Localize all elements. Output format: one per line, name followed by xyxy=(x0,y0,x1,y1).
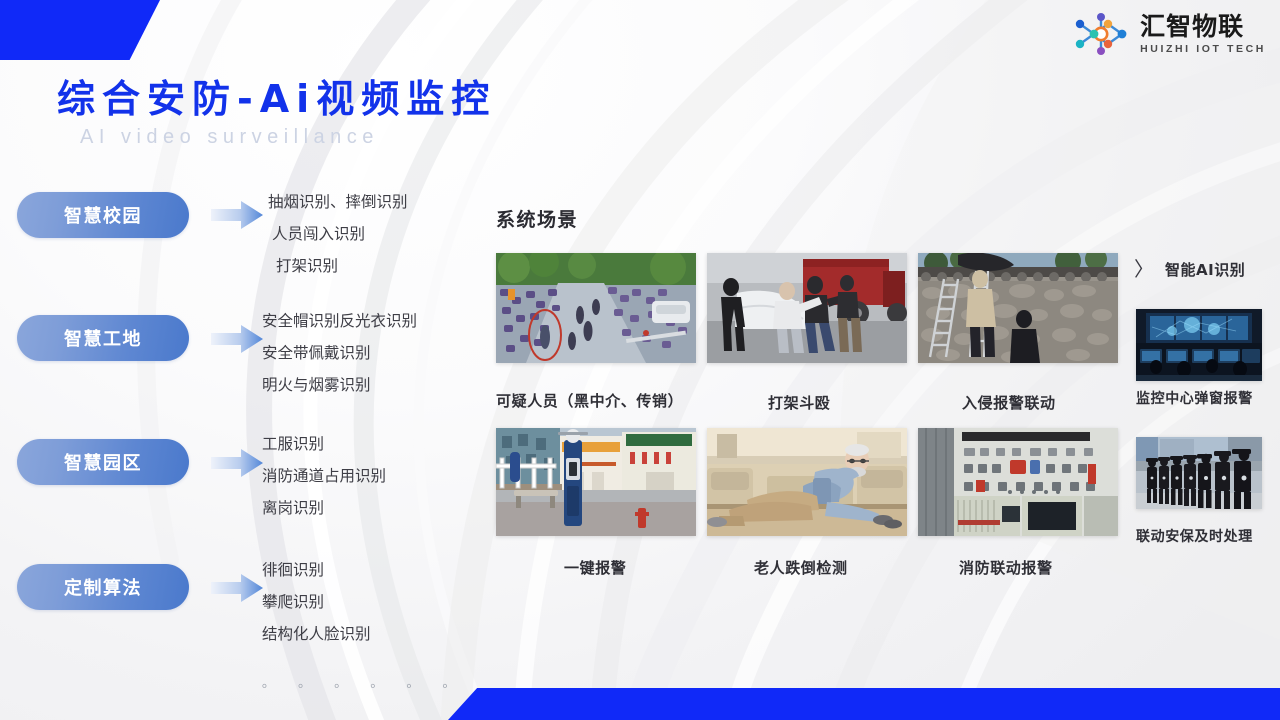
category-item: 消防通道占用识别 xyxy=(262,460,482,492)
category-row: 智慧校园 抽烟识别、摔倒识别 人员闯入识别 打架识别 xyxy=(0,180,480,302)
category-item: 攀爬识别 xyxy=(262,586,482,618)
side-photo-monitoring-center[interactable] xyxy=(1136,309,1262,381)
category-pill-smart-site[interactable]: 智慧工地 xyxy=(17,315,189,361)
slide-canvas: 汇智物联 HUIZHI IOT TECH 综合安防-Ai视频监控 AI vide… xyxy=(0,0,1280,720)
ai-recognition-label: 智能AI识别 xyxy=(1165,259,1245,280)
category-pill-smart-park[interactable]: 智慧园区 xyxy=(17,439,189,485)
scene-photo-suspicious-person[interactable] xyxy=(496,253,696,363)
category-pill-label: 智慧工地 xyxy=(64,325,142,351)
category-pill-smart-campus[interactable]: 智慧校园 xyxy=(17,192,189,238)
brand-logo: 汇智物联 HUIZHI IOT TECH xyxy=(1070,12,1266,56)
category-items: 安全帽识别反光衣识别 安全带佩戴识别 明火与烟雾识别 xyxy=(262,305,482,401)
category-row: 智慧工地 安全帽识别反光衣识别 安全带佩戴识别 明火与烟雾识别 xyxy=(0,302,480,424)
category-item: 明火与烟雾识别 xyxy=(262,369,482,401)
arrow-right-icon xyxy=(211,200,263,230)
category-item: 离岗识别 xyxy=(262,492,482,524)
category-item: 安全帽识别反光衣识别 xyxy=(262,305,482,337)
category-pill-label: 定制算法 xyxy=(64,574,142,600)
category-row: 定制算法 徘徊识别 攀爬识别 结构化人脸识别 xyxy=(0,546,480,668)
arrow-right-icon xyxy=(211,573,263,603)
category-items: 抽烟识别、摔倒识别 人员闯入识别 打架识别 xyxy=(268,186,483,282)
side-photo-caption: 监控中心弹窗报警 xyxy=(1136,388,1253,408)
ai-recognition-tag: 〉 智能AI识别 xyxy=(1134,259,1245,280)
monitoring-center-photo xyxy=(1136,309,1262,381)
category-item: 打架识别 xyxy=(268,250,483,282)
scene-caption: 可疑人员（黑中介、传销） xyxy=(496,390,683,411)
arrow-right-icon xyxy=(211,448,263,478)
ellipsis-dots: ｡ ｡ ｡ ｡ ｡ ｡ xyxy=(262,672,462,691)
street-crowd-surveillance-photo xyxy=(496,253,696,363)
category-item: 人员闯入识别 xyxy=(268,218,483,250)
category-pill-label: 智慧园区 xyxy=(64,449,142,475)
scene-photo-one-key-alarm[interactable] xyxy=(496,428,696,536)
arrow-right-icon xyxy=(211,324,263,354)
category-row: 智慧园区 工服识别 消防通道占用识别 离岗识别 xyxy=(0,424,480,546)
category-pill-custom-algorithm[interactable]: 定制算法 xyxy=(17,564,189,610)
page-subtitle: AI video surveillance xyxy=(80,126,379,149)
scene-photo-fight[interactable] xyxy=(707,253,907,363)
corner-shape-bottom-right xyxy=(448,688,1280,720)
wall-climbing-intrusion-photo xyxy=(918,253,1118,363)
security-guards-photo xyxy=(1136,437,1262,509)
scene-photo-intrusion[interactable] xyxy=(918,253,1118,363)
elderly-fall-photo xyxy=(707,428,907,536)
logo-chinese-name: 汇智物联 xyxy=(1140,14,1244,39)
category-item: 安全带佩戴识别 xyxy=(262,337,482,369)
side-photo-caption: 联动安保及时处理 xyxy=(1136,526,1253,546)
chevron-right-icon: 〉 xyxy=(1134,260,1154,280)
category-item: 工服识别 xyxy=(262,428,482,460)
scene-caption: 老人跌倒检测 xyxy=(754,557,848,578)
side-photo-security-guards[interactable] xyxy=(1136,437,1262,509)
section-title-system-scenarios: 系统场景 xyxy=(496,205,578,232)
scene-photo-fire-alarm[interactable] xyxy=(918,428,1118,536)
street-alarm-pillar-photo xyxy=(496,428,696,536)
street-fight-photo xyxy=(707,253,907,363)
fire-control-panel-photo xyxy=(918,428,1118,536)
scene-caption: 入侵报警联动 xyxy=(962,392,1056,413)
page-title: 综合安防-Ai视频监控 xyxy=(57,68,496,123)
scene-caption: 打架斗殴 xyxy=(768,392,830,413)
scene-photo-elderly-fall[interactable] xyxy=(707,428,907,536)
category-item: 徘徊识别 xyxy=(262,554,482,586)
molecule-network-icon xyxy=(1070,12,1132,56)
scene-caption: 消防联动报警 xyxy=(959,557,1053,578)
scene-caption: 一键报警 xyxy=(564,557,626,578)
category-list: 智慧校园 抽烟识别、摔倒识别 人员闯入识别 打架识别 智慧工地 xyxy=(0,180,480,668)
category-item: 抽烟识别、摔倒识别 xyxy=(268,186,483,218)
category-item: 结构化人脸识别 xyxy=(262,618,482,650)
logo-english-name: HUIZHI IOT TECH xyxy=(1140,44,1266,55)
category-items: 徘徊识别 攀爬识别 结构化人脸识别 xyxy=(262,554,482,650)
category-pill-label: 智慧校园 xyxy=(64,202,142,228)
corner-shape-top-left xyxy=(0,0,160,60)
category-items: 工服识别 消防通道占用识别 离岗识别 xyxy=(262,428,482,524)
